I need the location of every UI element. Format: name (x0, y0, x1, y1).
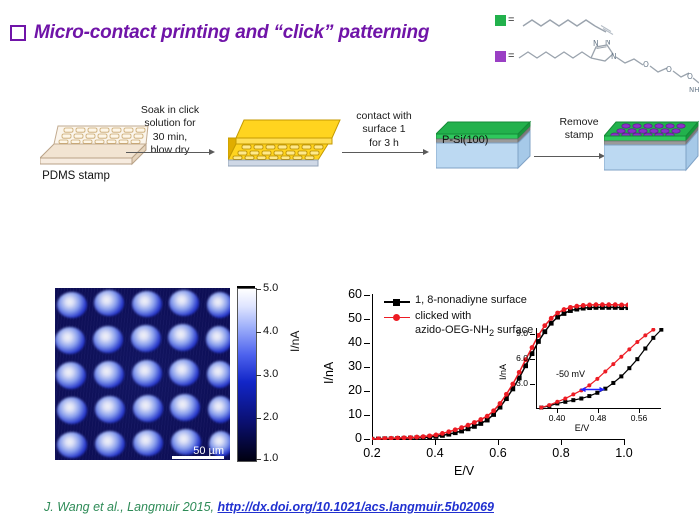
afm-spot (95, 396, 125, 423)
colorbar-tick (256, 418, 261, 419)
green-swatch-icon (495, 15, 506, 26)
svg-text:O: O (687, 72, 693, 81)
afm-spot (133, 430, 163, 456)
y-tick-label: 10 (328, 407, 362, 421)
afm-spot (169, 290, 199, 316)
page-title: Micro-contact printing and “click” patte… (34, 22, 429, 44)
patterned-silicon-substrate (604, 118, 700, 176)
afm-spot (168, 324, 198, 351)
inset-y-tick-label: 6.0 (496, 353, 528, 363)
molecule-legend-panel: = = N N N O O O NH 2 (495, 4, 700, 104)
x-tick-label: 0.6 (489, 446, 506, 460)
colorbar-tick (256, 289, 261, 290)
y-tick-label: 60 (328, 287, 362, 301)
square-bullet-icon (10, 25, 26, 41)
y-tick-label: 40 (328, 335, 362, 349)
inset-data-layer (536, 328, 664, 410)
afm-spot (170, 394, 200, 421)
afm-spot (132, 291, 162, 317)
legend-entry-black: 1, 8-nonadiyne surface (384, 294, 533, 308)
silicon-substrate-block: P-Si(100) (436, 118, 532, 174)
svg-text:NH: NH (689, 86, 699, 94)
legend-marker-square-icon (384, 296, 410, 307)
inset-x-tick-label: 0.40 (549, 413, 566, 423)
citation-authors: J. Wang et al., Langmuir 2015, (44, 500, 217, 514)
legend-key-triazole: = (495, 50, 514, 62)
flow-arrow-2-head (423, 149, 429, 155)
triazole-oeg-amine-structure: N N N O O O NH 2 (517, 40, 699, 104)
x-tick-label: 1.0 (615, 446, 632, 460)
svg-text:N: N (605, 40, 611, 47)
process-flow-diagram: PDMS stamp Soak in click solution for 30… (0, 108, 700, 228)
scalebar-line (172, 456, 224, 459)
afm-spot (94, 361, 124, 388)
y-axis-label: I/nA (322, 362, 336, 384)
colorbar-gradient (237, 288, 257, 462)
afm-spot (207, 292, 230, 318)
svg-text:N: N (593, 40, 599, 48)
equals-sign: = (508, 14, 514, 26)
y-tick (364, 319, 370, 320)
colorbar-tick (256, 332, 261, 333)
equals-sign: = (508, 50, 514, 62)
x-tick-label: 0.4 (426, 446, 443, 460)
alkyne-chain-structure (521, 6, 631, 36)
substrate-3d-shape (436, 118, 532, 174)
colorbar-tick-label: 1.0 (263, 452, 278, 464)
colorbar-tick-label: 5.0 (263, 282, 278, 294)
colorbar-tick (256, 459, 261, 460)
legend-label-line2-pre: azido-OEG-NH (415, 324, 489, 336)
inset-chart: 3.0 6.0 9.0 0.40 0.48 0.56 I/nA E/V -50 … (494, 324, 669, 436)
inset-y-tick-label: 9.0 (496, 328, 528, 338)
flow-arrow-3-line (534, 156, 600, 157)
afm-spot (94, 290, 124, 316)
legend-marker-circle-icon (384, 312, 410, 323)
svg-text:N: N (611, 52, 617, 61)
y-tick (364, 391, 370, 392)
inset-y-axis-label: I/nA (498, 364, 508, 380)
afm-spot (206, 326, 230, 353)
flow-arrow-1-line (126, 152, 210, 153)
x-tick-label: 0.8 (552, 446, 569, 460)
legend-key-alkyne: = (495, 14, 514, 26)
y-tick (364, 367, 370, 368)
colorbar-tick (256, 375, 261, 376)
afm-spot (207, 361, 230, 388)
slide-title-row: Micro-contact printing and “click” patte… (10, 22, 429, 44)
legend-label-line1: clicked with (415, 310, 471, 322)
y-tick (364, 295, 370, 296)
y-tick-label: 50 (328, 311, 362, 325)
pdms-stamp-inked-yellow (228, 114, 348, 172)
colorbar-axis-title: I/nA (288, 331, 302, 352)
afm-spot (57, 432, 87, 458)
afm-spot (57, 292, 87, 318)
flow-arrow-1-head (209, 149, 215, 155)
legend-label: 1, 8-nonadiyne surface (415, 294, 527, 308)
citation-footer: J. Wang et al., Langmuir 2015, http://dx… (44, 500, 494, 514)
x-axis-label: E/V (454, 464, 474, 478)
afm-spot (55, 327, 85, 354)
afm-spot (57, 397, 87, 424)
iv-curve-chart: 0 10 20 30 40 50 60 0.2 0.4 0.6 0.8 1.0 … (326, 288, 684, 468)
inset-x-tick-label: 0.56 (631, 413, 648, 423)
label-p-si-100: P-Si(100) (442, 134, 488, 146)
afm-image-canvas: 50 µm (55, 288, 230, 460)
afm-spot (133, 395, 163, 422)
purple-swatch-icon (495, 51, 506, 62)
svg-text:O: O (643, 60, 649, 69)
arrow-label-contact: contact with surface 1 for 3 h (338, 110, 430, 150)
colorbar-tick-label: 4.0 (263, 325, 278, 337)
x-tick-label: 0.2 (363, 446, 380, 460)
y-tick (364, 343, 370, 344)
inset-y-tick (530, 334, 535, 335)
afm-spot (131, 325, 161, 352)
colorbar-tick-label: 3.0 (263, 368, 278, 380)
y-tick-label: 0 (328, 431, 362, 445)
y-tick (364, 439, 370, 440)
caption-pdms-stamp: PDMS stamp (12, 170, 140, 182)
y-tick (364, 415, 370, 416)
arrow-label-soak: Soak in click solution for 30 min, blow … (122, 104, 218, 158)
citation-doi-link[interactable]: http://dx.doi.org/10.1021/acs.langmuir.5… (217, 500, 494, 514)
svg-text:O: O (666, 65, 672, 74)
afm-spot (208, 396, 230, 423)
afm-spot (93, 326, 123, 353)
afm-spot (56, 362, 86, 389)
y-tick-label: 20 (328, 383, 362, 397)
inset-x-axis-label: E/V (575, 423, 590, 433)
afm-spot (169, 359, 199, 386)
afm-spot (132, 360, 162, 387)
afm-current-map: 50 µm (55, 288, 230, 460)
inset-y-tick (530, 359, 535, 360)
flow-arrow-2-line (342, 152, 424, 153)
afm-spot (95, 431, 125, 457)
colorbar-tick-label: 2.0 (263, 411, 278, 423)
inset-x-tick-label: 0.48 (590, 413, 607, 423)
inset-y-tick (530, 384, 535, 385)
